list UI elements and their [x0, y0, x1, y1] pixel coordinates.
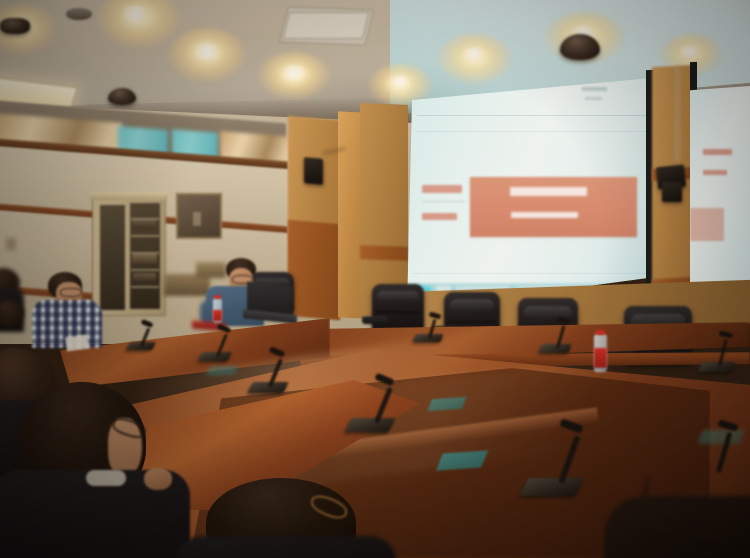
attendee-body — [604, 496, 750, 558]
name-pad — [436, 450, 488, 470]
wall-speaker-bracket — [662, 182, 682, 202]
name-pad — [698, 430, 745, 444]
slide-banner — [690, 208, 724, 242]
screen-surface — [402, 78, 652, 310]
microphone-base — [698, 362, 736, 372]
microphone-base — [345, 418, 396, 432]
av-rack-glass-door — [100, 205, 125, 310]
microphone-base — [538, 344, 571, 353]
spotlight-icon — [192, 44, 222, 59]
slide-sidebar-item — [703, 170, 727, 175]
dome-camera-icon — [108, 88, 136, 105]
wall-socket — [6, 238, 16, 250]
slide-sidebar-item — [422, 213, 457, 221]
chair-armrest — [362, 316, 388, 324]
slide-banner-subtitle — [511, 212, 578, 219]
main-projection-screen — [402, 78, 652, 310]
speaker-cable — [676, 66, 679, 162]
ceiling-fixture — [66, 8, 92, 20]
dome-camera-icon — [0, 18, 30, 34]
attendee-collar — [86, 470, 126, 486]
microphone-base — [198, 352, 232, 361]
dome-camera-icon — [560, 34, 600, 60]
slide-banner — [470, 177, 638, 237]
water-bottle-label — [594, 348, 607, 368]
microphone-base — [520, 478, 585, 496]
wood-panel-trim — [360, 245, 408, 261]
secondary-projection-screen — [690, 86, 750, 296]
slide-header-mark — [585, 97, 603, 100]
slide-sidebar-item — [703, 149, 732, 155]
spotlight-icon — [678, 46, 700, 57]
wall-speaker-icon — [304, 157, 323, 185]
av-gear-box — [196, 262, 226, 278]
water-bottle-cap — [596, 330, 605, 335]
wood-panel-wainscot — [288, 220, 340, 321]
water-bottle-cap — [214, 295, 221, 299]
photo-scene — [0, 0, 750, 558]
chair[interactable] — [372, 284, 424, 332]
attendee-hand — [144, 468, 172, 490]
name-pad — [206, 366, 238, 375]
spotlight-icon — [460, 48, 488, 61]
spotlight-icon — [120, 6, 150, 22]
wall-control-panel-detail — [193, 212, 201, 226]
slide-sidebar-item — [422, 185, 462, 193]
spotlight-icon — [280, 66, 308, 80]
av-rack-glass-door — [130, 203, 160, 309]
slide-header-mark — [582, 87, 607, 91]
slide-sidebar-divider — [422, 201, 465, 202]
av-rack-top — [90, 192, 166, 200]
water-bottle-label — [213, 310, 222, 321]
attendee-body — [176, 536, 396, 558]
slide-banner-title — [510, 187, 587, 195]
attendee-glasses-icon — [60, 288, 82, 297]
air-vent-panel-2 — [283, 12, 370, 39]
